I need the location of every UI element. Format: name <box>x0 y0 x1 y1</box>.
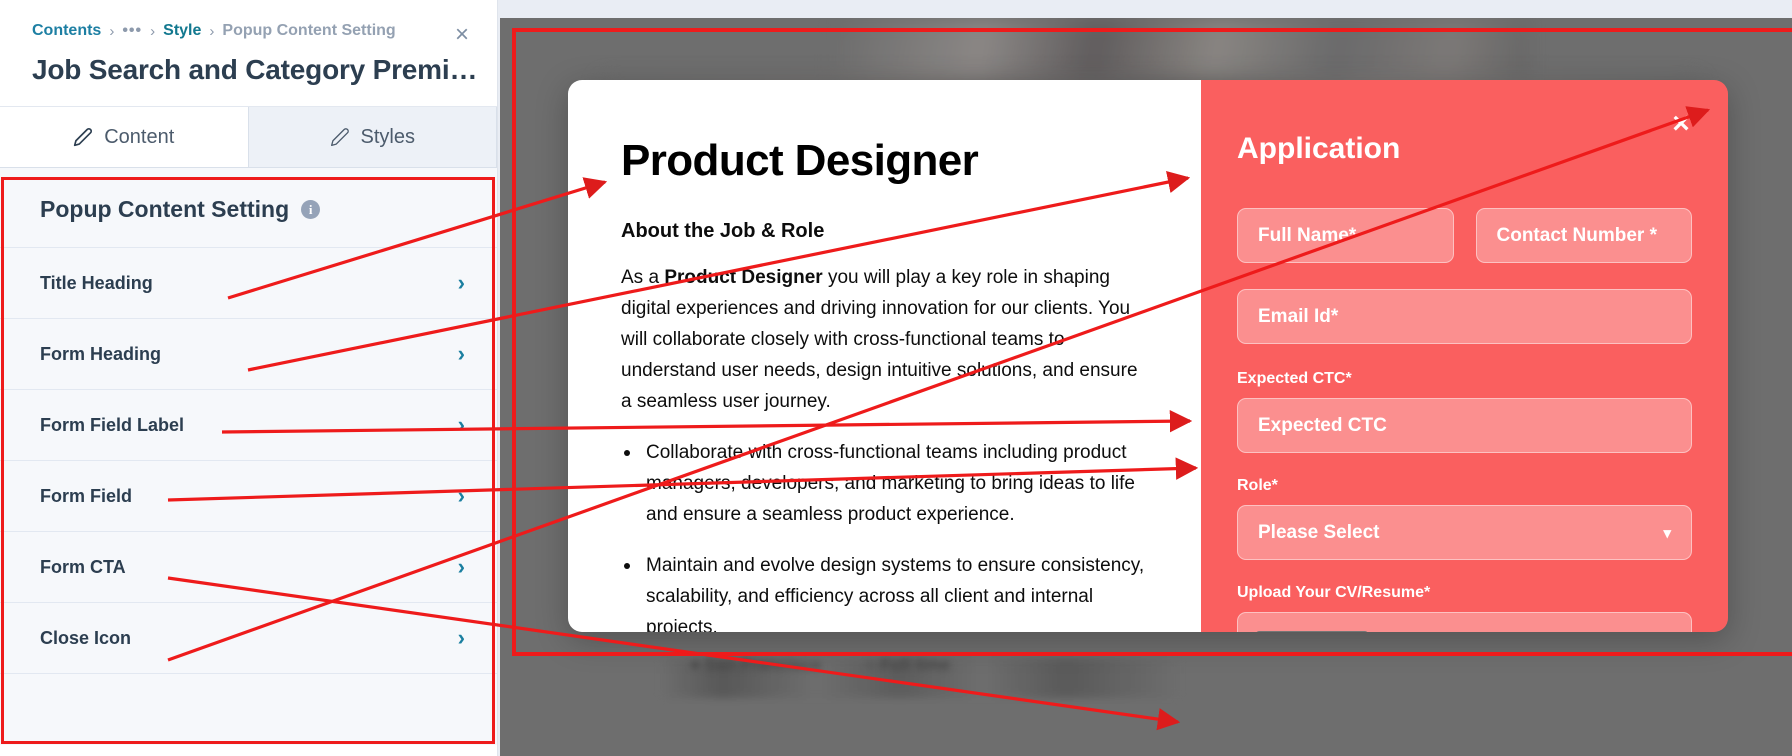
breadcrumb-separator: › <box>109 23 114 40</box>
tab-content-label: Content <box>104 126 174 149</box>
modal-description-pane: Product Designer About the Job & Role As… <box>568 80 1201 632</box>
full-name-input[interactable]: Full Name* <box>1237 208 1454 263</box>
role-select-value: Please Select <box>1258 522 1379 544</box>
setting-row-form-cta[interactable]: Form CTA › <box>0 531 497 602</box>
breadcrumb-contents[interactable]: Contents <box>32 22 101 40</box>
setting-row-close-icon[interactable]: Close Icon › <box>0 602 497 673</box>
background-location-text: San Francisco <box>705 655 821 674</box>
tab-content[interactable]: Content <box>0 107 249 167</box>
name-contact-row: Full Name* Contact Number * <box>1237 208 1692 263</box>
preview-viewport: ● San Francisco ○ Full time Product Desi… <box>500 18 1792 756</box>
choose-file-button[interactable]: Choose File <box>1256 631 1368 632</box>
setting-label: Form Field <box>40 486 132 507</box>
chevron-down-icon: ▾ <box>1663 524 1671 542</box>
breadcrumb: Contents › ••• › Style › Popup Content S… <box>0 0 497 40</box>
setting-label: Title Heading <box>40 273 153 294</box>
email-input[interactable]: Email Id* <box>1237 289 1692 344</box>
application-heading: Application <box>1237 132 1692 166</box>
setting-label: Form CTA <box>40 557 126 578</box>
setting-row-form-field-label[interactable]: Form Field Label › <box>0 389 497 460</box>
about-intro-rest: you will play a key role in shaping digi… <box>621 267 1138 412</box>
setting-label: Close Icon <box>40 628 131 649</box>
chevron-right-icon: › <box>458 625 465 651</box>
close-icon[interactable]: × <box>449 22 475 48</box>
tab-styles[interactable]: Styles <box>249 107 498 167</box>
modal-close-icon[interactable]: × <box>1666 110 1696 140</box>
about-intro-prefix: As a <box>621 267 664 288</box>
about-heading: About the Job & Role <box>621 220 1153 243</box>
settings-panel: Contents › ••• › Style › Popup Content S… <box>0 0 498 756</box>
section-title: Popup Content Setting <box>40 196 289 223</box>
page-title: Job Search and Category Premi… <box>0 40 497 106</box>
breadcrumb-separator-2: › <box>150 23 155 40</box>
setting-label: Form Heading <box>40 344 161 365</box>
clock-icon: ○ <box>865 655 875 674</box>
chevron-right-icon: › <box>458 554 465 580</box>
role-select[interactable]: Please Select ▾ <box>1237 505 1692 560</box>
pencil-icon <box>330 127 350 147</box>
expected-ctc-group: Expected CTC* Expected CTC <box>1237 370 1692 453</box>
breadcrumb-ellipsis[interactable]: ••• <box>122 22 142 40</box>
chevron-right-icon: › <box>458 341 465 367</box>
setting-row-form-heading[interactable]: Form Heading › <box>0 318 497 389</box>
chevron-right-icon: › <box>458 412 465 438</box>
info-icon[interactable]: i <box>301 200 320 219</box>
list-item: Maintain and evolve design systems to en… <box>621 550 1153 632</box>
responsibility-list: Collaborate with cross-functional teams … <box>621 437 1153 632</box>
about-paragraph: As a Product Designer you will play a ke… <box>621 262 1153 417</box>
section-header: Popup Content Setting i <box>0 168 497 247</box>
expected-ctc-label: Expected CTC* <box>1237 370 1692 388</box>
chevron-right-icon: › <box>458 270 465 296</box>
setting-row-form-field[interactable]: Form Field › <box>0 460 497 531</box>
breadcrumb-separator-3: › <box>209 23 214 40</box>
list-filler <box>0 673 497 745</box>
background-jobtype-text: Full time <box>880 655 950 674</box>
clock-icon-group: ○ Full time <box>865 655 950 675</box>
setting-row-title-heading[interactable]: Title Heading › <box>0 247 497 318</box>
role-label: Role* <box>1237 477 1692 495</box>
settings-list: Title Heading › Form Heading › Form Fiel… <box>0 247 497 745</box>
upload-group: Upload Your CV/Resume* Choose File <box>1237 584 1692 632</box>
background-job-meta: ● San Francisco ○ Full time <box>690 655 950 675</box>
expected-ctc-input[interactable]: Expected CTC <box>1237 398 1692 453</box>
setting-label: Form Field Label <box>40 415 184 436</box>
email-row: Email Id* <box>1237 289 1692 344</box>
pencil-icon <box>73 127 93 147</box>
role-group: Role* Please Select ▾ <box>1237 477 1692 560</box>
location-pin-icon: ● <box>690 655 700 674</box>
breadcrumb-current: Popup Content Setting <box>222 22 395 40</box>
preview-canvas: ● San Francisco ○ Full time Product Desi… <box>500 0 1792 756</box>
job-application-modal: Product Designer About the Job & Role As… <box>568 80 1728 632</box>
contact-number-input[interactable]: Contact Number * <box>1476 208 1693 263</box>
job-title: Product Designer <box>621 136 1153 186</box>
breadcrumb-style[interactable]: Style <box>163 22 201 40</box>
tab-styles-label: Styles <box>361 126 415 149</box>
upload-cv-label: Upload Your CV/Resume* <box>1237 584 1692 602</box>
list-item: Collaborate with cross-functional teams … <box>621 437 1153 530</box>
screen-root: Contents › ••• › Style › Popup Content S… <box>0 0 1792 756</box>
upload-cv-field[interactable]: Choose File <box>1237 612 1692 632</box>
location-pin-icon-group: ● San Francisco <box>690 655 821 675</box>
about-intro-bold: Product Designer <box>664 267 822 288</box>
modal-application-pane: × Application Full Name* Contact Number … <box>1201 80 1728 632</box>
tab-bar: Content Styles <box>0 106 497 168</box>
chevron-right-icon: › <box>458 483 465 509</box>
